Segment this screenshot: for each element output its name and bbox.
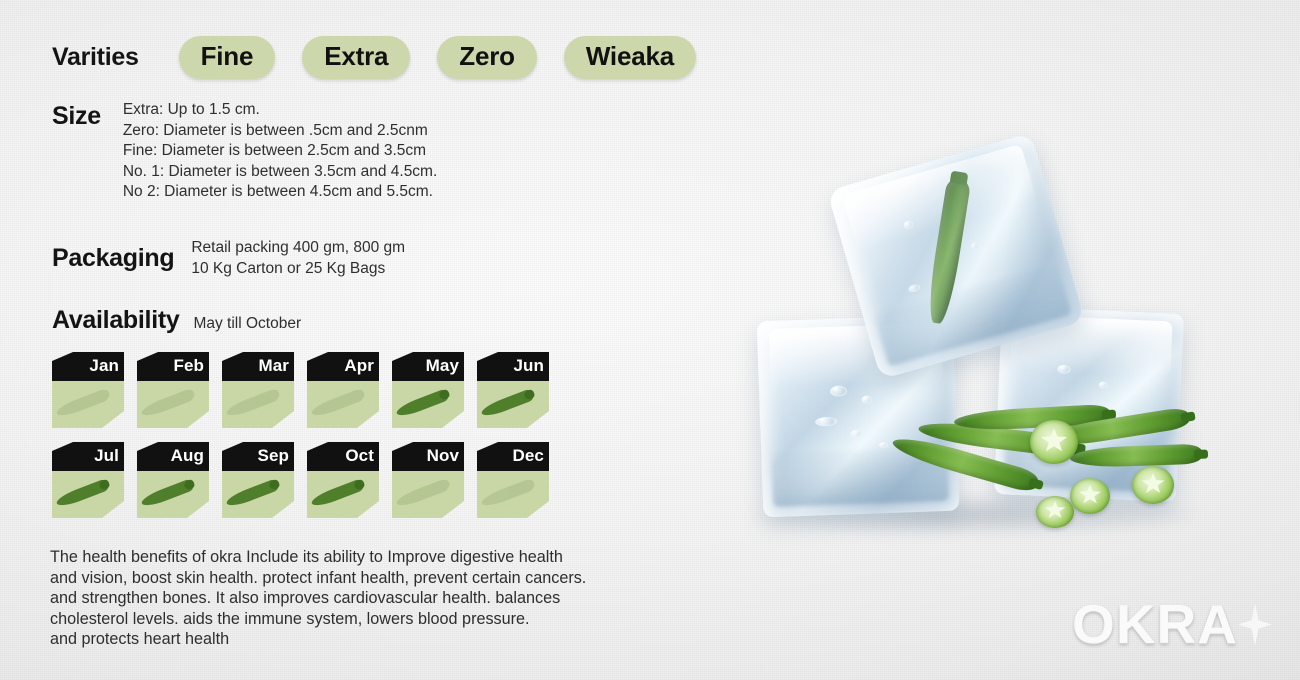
month-label-header: Jul bbox=[52, 442, 124, 471]
month-label-header: Apr bbox=[307, 352, 379, 381]
month-label: Apr bbox=[344, 357, 374, 376]
four-point-star-icon bbox=[1238, 604, 1272, 646]
month-body bbox=[392, 471, 464, 518]
variety-pill-zero[interactable]: Zero bbox=[437, 36, 537, 79]
month-label: Oct bbox=[345, 447, 374, 466]
month-label: May bbox=[426, 357, 459, 376]
bubble bbox=[851, 430, 863, 437]
month-label: Jan bbox=[89, 357, 119, 376]
variety-pill-wieaka[interactable]: Wieaka bbox=[564, 36, 696, 79]
packaging-line-list: Retail packing 400 gm, 800 gm 10 Kg Cart… bbox=[191, 238, 405, 279]
size-section: Size Extra: Up to 1.5 cm. Zero: Diameter… bbox=[52, 100, 437, 203]
packaging-line: 10 Kg Carton or 25 Kg Bags bbox=[191, 259, 405, 280]
month-label: Aug bbox=[171, 447, 204, 466]
month-body bbox=[52, 381, 124, 428]
variety-pill-extra[interactable]: Extra bbox=[302, 36, 410, 79]
bubble bbox=[1099, 382, 1108, 389]
okra-slice bbox=[1132, 466, 1174, 504]
month-body bbox=[222, 381, 294, 428]
month-tile-mar[interactable]: Mar bbox=[222, 352, 294, 428]
size-line-list: Extra: Up to 1.5 cm. Zero: Diameter is b… bbox=[123, 100, 437, 203]
watermark-text: OKRA bbox=[1072, 597, 1238, 652]
benefits-line: cholesterol levels. aids the immune syst… bbox=[50, 609, 586, 630]
month-label: Jun bbox=[513, 357, 544, 376]
okra-pod-icon bbox=[395, 388, 450, 419]
month-tile-jan[interactable]: Jan bbox=[52, 352, 124, 428]
availability-month-grid: Jan Feb Mar bbox=[52, 352, 549, 518]
okra-pod-icon bbox=[395, 478, 450, 509]
month-tile-oct[interactable]: Oct bbox=[307, 442, 379, 518]
size-heading: Size bbox=[52, 100, 101, 131]
spec-sheet-page: Varities Fine Extra Zero Wieaka Size Ext… bbox=[0, 0, 1300, 680]
benefits-line: and vision, boost skin health. protect i… bbox=[50, 568, 586, 589]
bubble bbox=[861, 396, 872, 404]
bubble bbox=[970, 242, 980, 251]
packaging-section: Packaging Retail packing 400 gm, 800 gm … bbox=[52, 238, 405, 279]
benefits-line: and strengthen bones. It also improves c… bbox=[50, 588, 586, 609]
month-label: Jul bbox=[94, 447, 119, 466]
varieties-section: Varities Fine Extra Zero Wieaka bbox=[52, 36, 696, 79]
month-body bbox=[307, 381, 379, 428]
okra-pod-icon bbox=[225, 478, 280, 509]
month-tile-apr[interactable]: Apr bbox=[307, 352, 379, 428]
month-label: Sep bbox=[258, 447, 289, 466]
okra-seed-star-icon bbox=[1040, 428, 1068, 454]
month-body bbox=[307, 471, 379, 518]
month-label-header: Mar bbox=[222, 352, 294, 381]
okra-pod-icon bbox=[140, 388, 195, 419]
month-body bbox=[137, 381, 209, 428]
month-label-header: Dec bbox=[477, 442, 549, 471]
size-line: Extra: Up to 1.5 cm. bbox=[123, 100, 437, 121]
month-label: Feb bbox=[173, 357, 204, 376]
product-photograph bbox=[740, 0, 1300, 680]
okra-pod-icon bbox=[310, 478, 365, 509]
bubble bbox=[1058, 365, 1071, 375]
month-tile-jul[interactable]: Jul bbox=[52, 442, 124, 518]
okra-pod-icon bbox=[225, 388, 280, 419]
benefits-line: and protects heart health bbox=[50, 629, 586, 650]
month-label-header: Feb bbox=[137, 352, 209, 381]
okra-seed-star-icon bbox=[1078, 484, 1101, 505]
okra-pod-icon bbox=[55, 478, 110, 509]
month-body bbox=[222, 471, 294, 518]
month-body bbox=[477, 381, 549, 428]
variety-pill-fine[interactable]: Fine bbox=[179, 36, 276, 79]
month-tile-aug[interactable]: Aug bbox=[137, 442, 209, 518]
month-label-header: Oct bbox=[307, 442, 379, 471]
okra-seed-star-icon bbox=[1141, 473, 1165, 495]
month-tile-dec[interactable]: Dec bbox=[477, 442, 549, 518]
bubble bbox=[879, 442, 888, 448]
month-label-header: Aug bbox=[137, 442, 209, 471]
varieties-heading: Varities bbox=[52, 43, 139, 72]
month-label: Nov bbox=[427, 447, 459, 466]
bubble bbox=[907, 283, 920, 293]
health-benefits-paragraph: The health benefits of okra Include its … bbox=[50, 547, 586, 650]
month-label: Dec bbox=[513, 447, 545, 466]
month-tile-jun[interactable]: Jun bbox=[477, 352, 549, 428]
okra-pod-icon bbox=[140, 478, 195, 509]
okra-slice bbox=[1070, 478, 1110, 514]
okra-seed-star-icon bbox=[1044, 501, 1066, 520]
month-tile-may[interactable]: May bbox=[392, 352, 464, 428]
okra-slice bbox=[1036, 496, 1074, 528]
bubble bbox=[829, 385, 846, 397]
month-label-header: Jun bbox=[477, 352, 549, 381]
availability-note: May till October bbox=[193, 315, 301, 333]
month-tile-feb[interactable]: Feb bbox=[137, 352, 209, 428]
okra-pod-icon bbox=[55, 388, 110, 419]
month-label-header: Jan bbox=[52, 352, 124, 381]
availability-section: Availability May till October bbox=[52, 306, 301, 335]
month-label-header: Sep bbox=[222, 442, 294, 471]
bubble bbox=[902, 220, 914, 230]
month-tile-nov[interactable]: Nov bbox=[392, 442, 464, 518]
okra-slice bbox=[1030, 420, 1078, 464]
size-line: Fine: Diameter is between 2.5cm and 3.5c… bbox=[123, 141, 437, 162]
size-line: Zero: Diameter is between .5cm and 2.5cn… bbox=[123, 121, 437, 142]
okra-pod-icon bbox=[480, 478, 535, 509]
size-line: No 2: Diameter is between 4.5cm and 5.5c… bbox=[123, 182, 437, 203]
bubble bbox=[815, 417, 837, 427]
okra-watermark-logo: OKRA bbox=[1072, 597, 1272, 652]
availability-heading: Availability bbox=[52, 306, 179, 335]
okra-pod-icon bbox=[310, 388, 365, 419]
packaging-heading: Packaging bbox=[52, 238, 174, 273]
month-label-header: Nov bbox=[392, 442, 464, 471]
month-body bbox=[52, 471, 124, 518]
month-tile-sep[interactable]: Sep bbox=[222, 442, 294, 518]
okra-pod-icon bbox=[480, 388, 535, 419]
month-body bbox=[392, 381, 464, 428]
month-body bbox=[137, 471, 209, 518]
variety-pill-group: Fine Extra Zero Wieaka bbox=[179, 36, 696, 79]
benefits-line: The health benefits of okra Include its … bbox=[50, 547, 586, 568]
month-label: Mar bbox=[258, 357, 289, 376]
size-line: No. 1: Diameter is between 3.5cm and 4.5… bbox=[123, 162, 437, 183]
month-body bbox=[477, 471, 549, 518]
month-label-header: May bbox=[392, 352, 464, 381]
packaging-line: Retail packing 400 gm, 800 gm bbox=[191, 238, 405, 259]
